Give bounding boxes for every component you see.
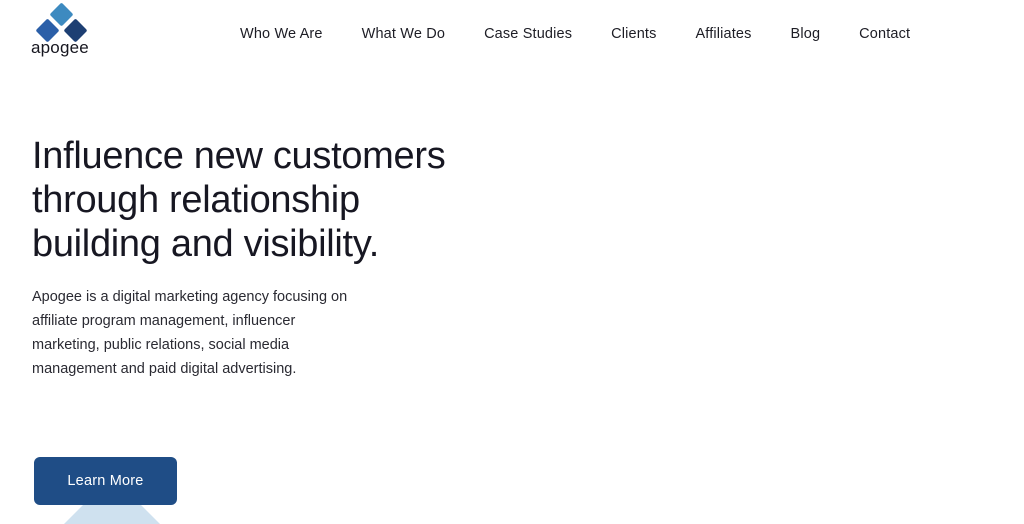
description-line-4: management and paid digital advertising. — [32, 357, 432, 381]
headline-line-1: Influence new customers — [32, 134, 532, 178]
nav-item-what-we-do[interactable]: What We Do — [362, 19, 445, 49]
nav-item-affiliates[interactable]: Affiliates — [695, 19, 751, 49]
primary-navigation: Who We Are What We Do Case Studies Clien… — [240, 0, 910, 68]
page-root: apogee Who We Are What We Do Case Studie… — [0, 0, 1024, 524]
hero-section: Influence new customers through relation… — [0, 68, 1024, 524]
description-line-1: Apogee is a digital marketing agency foc… — [32, 285, 432, 309]
page-title: Influence new customers through relation… — [32, 134, 532, 266]
learn-more-button[interactable]: Learn More — [34, 457, 177, 505]
headline-line-2: through relationship — [32, 178, 532, 222]
brand-logo-link[interactable]: apogee — [31, 4, 93, 60]
headline-line-3: building and visibility. — [32, 222, 532, 266]
nav-item-case-studies[interactable]: Case Studies — [484, 19, 572, 49]
description-line-3: marketing, public relations, social medi… — [32, 333, 432, 357]
hero-description: Apogee is a digital marketing agency foc… — [32, 285, 432, 381]
apogee-diamonds-logo-icon — [31, 4, 93, 37]
brand-wordmark: apogee — [31, 38, 93, 58]
site-header: apogee Who We Are What We Do Case Studie… — [0, 0, 1024, 68]
nav-item-blog[interactable]: Blog — [791, 19, 821, 49]
nav-item-who-we-are[interactable]: Who We Are — [240, 19, 323, 49]
description-line-2: affiliate program management, influencer — [32, 309, 432, 333]
nav-item-clients[interactable]: Clients — [611, 19, 656, 49]
nav-item-contact[interactable]: Contact — [859, 19, 910, 49]
